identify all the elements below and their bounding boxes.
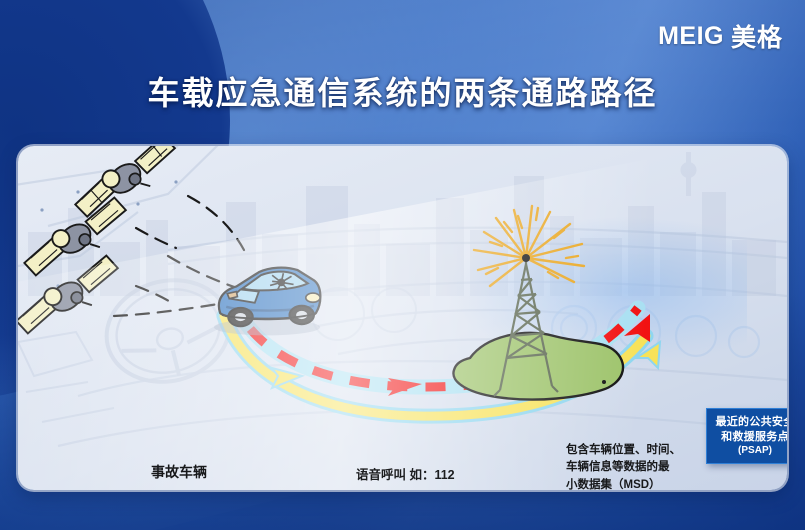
- logo-mark-text: MEIG: [658, 22, 724, 51]
- msd-note-line-3: 小数据集（MSD）: [566, 477, 681, 491]
- cell-site: [453, 206, 623, 400]
- slide: MEIG 美格 车载应急通信系统的两条通路路径: [0, 0, 805, 530]
- satellite-2: [18, 195, 136, 277]
- logo-cn-text: 美格: [731, 18, 783, 54]
- msd-note: 包含车辆位置、时间、 车辆信息等数据的最 小数据集（MSD）: [566, 442, 681, 490]
- psap-line-3: (PSAP): [738, 444, 772, 457]
- vehicle-label: 事故车辆: [151, 462, 207, 482]
- page-title: 车载应急通信系统的两条通路路径: [0, 68, 805, 114]
- msd-note-line-2: 车辆信息等数据的最: [566, 459, 681, 476]
- diagram-artwork: [18, 146, 787, 490]
- grass-patch: [453, 333, 623, 400]
- meig-logo: MEIG 美格: [658, 18, 783, 54]
- psap-line-1: 最近的公共安全: [715, 415, 787, 429]
- diagram-panel: 事故车辆 语音呼叫 如：112 数据呼叫 如：112 包含车辆位置、时间、 车辆…: [18, 146, 787, 490]
- psap-line-2: 和救援服务点: [721, 430, 787, 444]
- msd-note-line-1: 包含车辆位置、时间、: [566, 442, 681, 459]
- psap-box: 最近的公共安全 和救援服务点 (PSAP): [706, 408, 787, 464]
- voice-call-label: 语音呼叫 如：112: [356, 466, 455, 484]
- accident-vehicle: [214, 268, 320, 336]
